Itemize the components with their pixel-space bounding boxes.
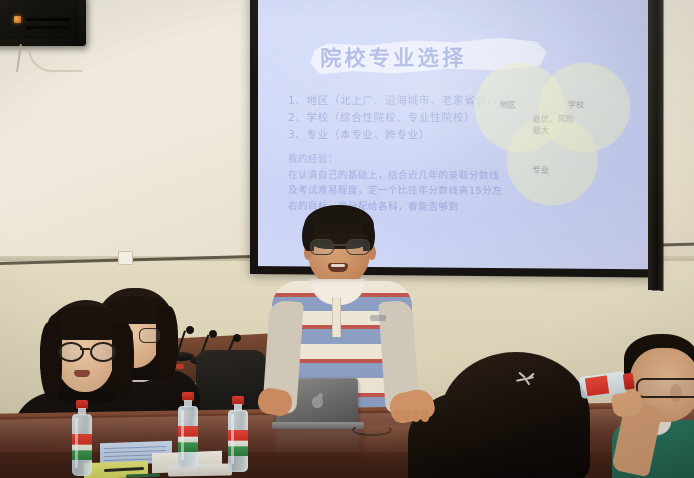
water-bottle-2 bbox=[178, 392, 198, 468]
woman1-glasses-icon bbox=[58, 342, 112, 358]
presenter-brow-left bbox=[312, 234, 332, 237]
presenter-glasses-icon bbox=[310, 239, 368, 253]
shirt-logo bbox=[370, 315, 386, 321]
laptop-reflection bbox=[276, 429, 360, 456]
glasses-bridge bbox=[80, 348, 90, 350]
bottle-highlight bbox=[231, 414, 234, 464]
venn-diagram: 地区 学校 专业 最优、风险最大 bbox=[475, 56, 641, 210]
monitor-vent bbox=[26, 18, 70, 21]
laptop-base bbox=[272, 422, 364, 429]
monitor-vent-2 bbox=[26, 26, 70, 29]
water-bottle-3 bbox=[228, 396, 248, 472]
man2-glasses-icon bbox=[636, 378, 694, 398]
woman1-mouth bbox=[74, 370, 90, 377]
wall-outlet bbox=[118, 251, 133, 265]
venn-label-region: 地区 bbox=[499, 99, 515, 110]
woman1-hair-right bbox=[112, 322, 134, 400]
wall-monitor bbox=[0, 0, 86, 46]
glasses-lens-right bbox=[346, 239, 370, 255]
apple-logo-icon bbox=[312, 396, 323, 408]
power-led-icon bbox=[14, 16, 21, 23]
venn-label-school: 学校 bbox=[568, 99, 585, 110]
bottle-highlight bbox=[181, 410, 184, 460]
glasses-lens-right bbox=[90, 342, 116, 362]
glasses-bridge bbox=[332, 244, 346, 246]
board-right-frame bbox=[648, 0, 663, 291]
seated-man-right bbox=[608, 334, 694, 478]
microphone-head-2 bbox=[209, 330, 217, 338]
presenter-fingers bbox=[394, 410, 434, 422]
presenter-mouth bbox=[328, 263, 348, 272]
glasses-lens-left bbox=[310, 239, 334, 255]
presenter-brow-right bbox=[348, 234, 368, 237]
lecture-room-photo: 院校专业选择 1、地区（北上广、沿海城市、老家省会．．．） 2、学校（综合性院校… bbox=[0, 0, 694, 478]
microphone-head-3 bbox=[233, 334, 241, 342]
hair-clip-icon bbox=[516, 374, 538, 386]
bottle-highlight bbox=[75, 418, 78, 468]
woman1-hair-left bbox=[40, 322, 62, 400]
presenter-placket bbox=[332, 297, 341, 337]
glasses-lens-left bbox=[58, 342, 84, 362]
venn-label-major: 专业 bbox=[532, 165, 549, 176]
water-bottle-1 bbox=[72, 400, 92, 476]
venn-center-label: 最优、风险最大 bbox=[532, 114, 580, 136]
